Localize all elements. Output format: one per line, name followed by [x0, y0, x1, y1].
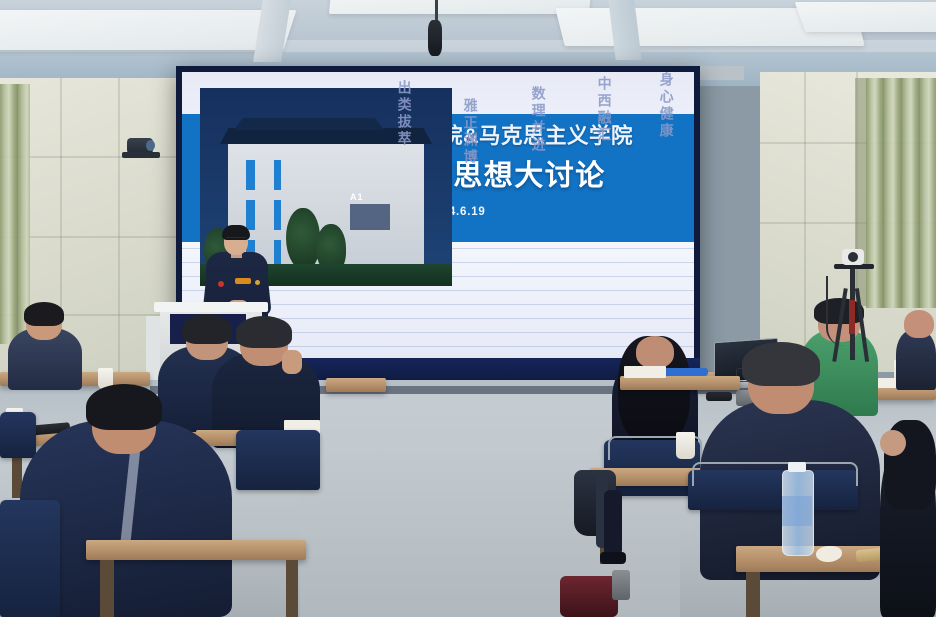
wall-camera-lens-icon [146, 140, 155, 151]
speaker-lapel-pin [255, 280, 260, 285]
paper-cup [676, 432, 695, 459]
wall-camera-bracket [122, 152, 160, 158]
hand [282, 350, 302, 374]
shoe [600, 552, 626, 564]
bottle-label [782, 496, 812, 526]
hair [236, 316, 292, 348]
chair [0, 412, 36, 458]
building-sign-plate [350, 204, 390, 230]
curtain-right [866, 78, 936, 308]
speaker-badge [235, 278, 251, 284]
calligraphy-phrase: 中西融汇 [596, 76, 612, 144]
attendee-back-right [896, 330, 936, 390]
tripod-grip [849, 300, 855, 334]
speaker-lapel-pin [218, 281, 224, 287]
thermos-cup [612, 570, 630, 600]
hair [182, 314, 232, 344]
calligraphy-phrase: 雅正渊博 [462, 98, 478, 166]
chair [236, 430, 320, 490]
hair [24, 302, 64, 326]
ceiling-light-panel [329, 0, 591, 14]
head [636, 336, 674, 368]
photograph-scene: 通识教育与外国语学院&马克思主义学院 本科教育教学思想大讨论 时间：2024.6… [0, 0, 936, 617]
desk [620, 376, 740, 390]
red-bag [560, 576, 618, 617]
calligraphy-phrase: 身心健康 [658, 72, 674, 140]
bottle-cap [788, 462, 806, 472]
ceiling-light-panel [0, 10, 296, 50]
hand [880, 430, 906, 456]
ceiling-light-panel [795, 2, 936, 32]
building-sign-label: A1 [350, 192, 364, 202]
head [904, 310, 934, 338]
podium-top [154, 302, 268, 312]
leg [604, 490, 622, 556]
hanging-cable [435, 0, 438, 22]
smartphone [706, 392, 732, 401]
camera-lens-icon [848, 252, 858, 262]
chair [0, 500, 60, 617]
hair [86, 384, 162, 430]
calligraphy-phrase: 数理并进 [530, 86, 546, 154]
speaker-glasses-icon [226, 237, 246, 243]
desk [326, 378, 386, 392]
hanging-speaker-icon [428, 20, 442, 56]
blue-pen [664, 368, 708, 376]
calligraphy-phrase: 出类拔萃 [396, 80, 412, 148]
chair-rail [692, 462, 858, 486]
curtain-left [0, 84, 30, 344]
desk [86, 540, 306, 560]
